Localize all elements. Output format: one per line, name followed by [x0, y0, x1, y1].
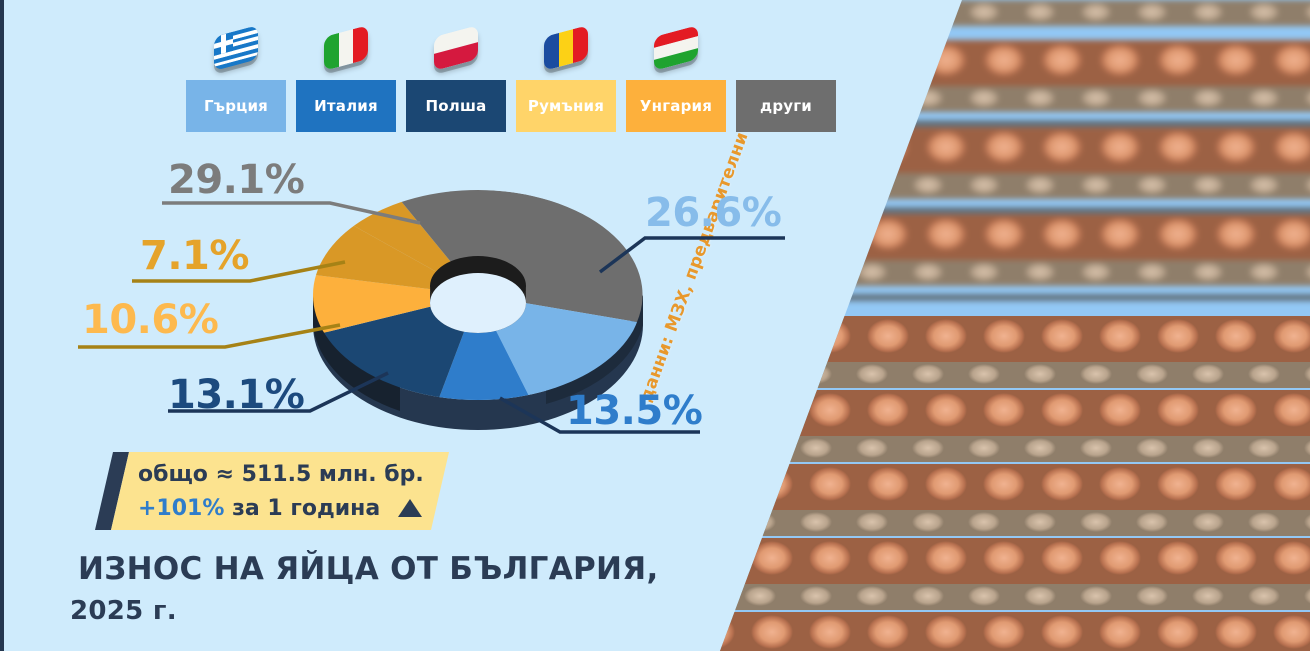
legend-label-romania: Румъния [516, 80, 616, 132]
callout-value-romania: 10.6% [82, 297, 218, 343]
callout-value-greece: 26.6% [645, 190, 781, 236]
legend-item-greece[interactable]: Гърция [186, 28, 286, 132]
summary-badge: общо ≈ 511.5 млн. бр. +101% за 1 година [104, 452, 444, 530]
page-title-line2: 2025 г. [70, 590, 678, 632]
no-flag-placeholder [759, 28, 813, 74]
legend: Гърция Италия Полша [186, 28, 836, 132]
callout-value-poland: 13.1% [168, 372, 304, 418]
greece-flag-icon [209, 28, 263, 74]
donut-center-hole [430, 256, 526, 333]
poland-flag-icon [429, 28, 483, 74]
callout-value-italy: 13.5% [566, 388, 702, 434]
summary-growth-line: +101% за 1 година [138, 492, 448, 526]
legend-label-poland: Полша [406, 80, 506, 132]
page-title: ИЗНОС НА ЯЙЦА ОТ БЪЛГАРИЯ, 2025 г. [78, 548, 678, 632]
infographic-canvas: данни: МЗХ, предварителни [0, 0, 1310, 651]
callout-value-others: 29.1% [168, 157, 304, 203]
hungary-flag-icon [649, 28, 703, 74]
callout-value-hungary: 7.1% [140, 233, 249, 279]
legend-item-italy[interactable]: Италия [296, 28, 396, 132]
italy-flag-icon [319, 28, 373, 74]
summary-total: общо ≈ 511.5 млн. бр. [138, 458, 448, 492]
romania-flag-icon [539, 28, 593, 74]
legend-item-poland[interactable]: Полша [406, 28, 506, 132]
page-title-line1: ИЗНОС НА ЯЙЦА ОТ БЪЛГАРИЯ, [78, 551, 659, 587]
legend-label-hungary: Унгария [626, 80, 726, 132]
summary-growth-period: за 1 година [232, 496, 380, 521]
legend-item-hungary[interactable]: Унгария [626, 28, 726, 132]
left-edge-strip [0, 0, 4, 651]
legend-item-romania[interactable]: Румъния [516, 28, 616, 132]
summary-growth-value: +101% [138, 496, 224, 521]
legend-label-greece: Гърция [186, 80, 286, 132]
triangle-up-icon [398, 499, 422, 517]
legend-label-others: други [736, 80, 836, 132]
legend-label-italy: Италия [296, 80, 396, 132]
legend-item-others[interactable]: други [736, 28, 836, 132]
